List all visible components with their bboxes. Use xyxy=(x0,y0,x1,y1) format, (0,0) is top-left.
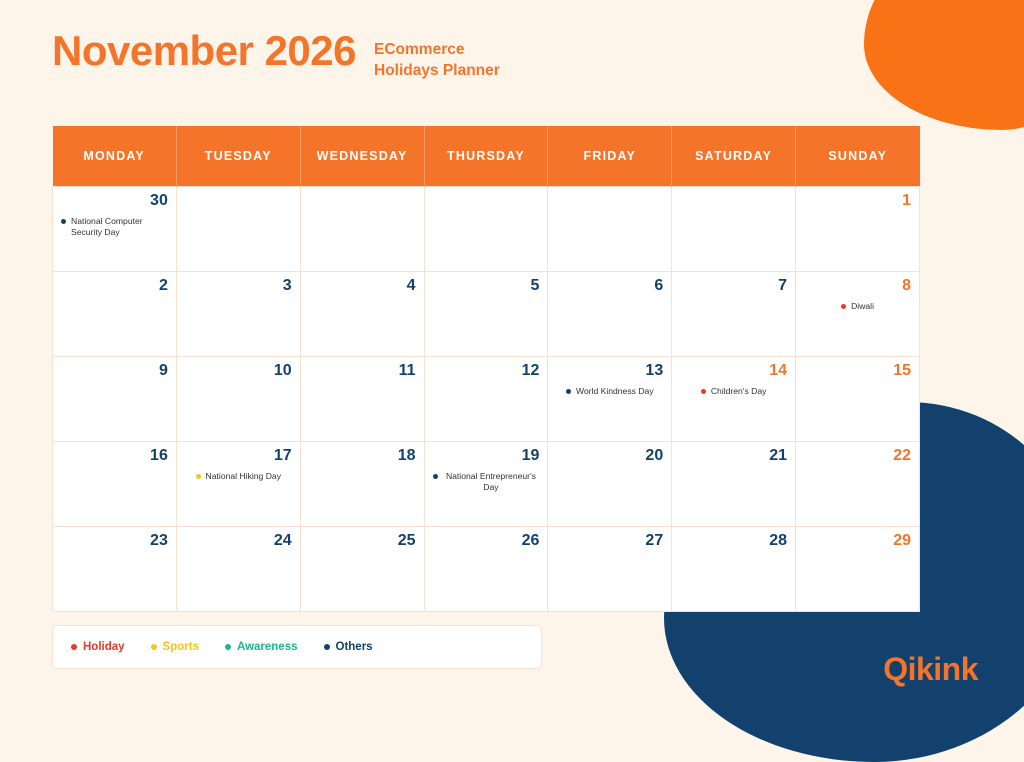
event-label: National Entrepreneur's Day xyxy=(443,471,540,493)
day-events: National Computer Security Day xyxy=(61,216,168,238)
calendar-day-cell[interactable] xyxy=(176,186,300,271)
calendar-event[interactable]: World Kindness Day xyxy=(556,386,663,397)
event-label: Diwali xyxy=(851,301,874,312)
day-number: 28 xyxy=(680,533,787,549)
event-category-dot-others xyxy=(61,219,66,224)
day-number: 30 xyxy=(61,193,168,209)
calendar-day-cell[interactable] xyxy=(672,186,796,271)
calendar-day-cell[interactable]: 23 xyxy=(53,526,177,611)
event-category-dot-others xyxy=(566,389,571,394)
legend-label: Awareness xyxy=(237,641,298,653)
page-title: November 2026 xyxy=(52,30,356,72)
day-number: 3 xyxy=(185,278,292,294)
weekday-header-friday: FRIDAY xyxy=(548,126,672,186)
calendar-day-cell[interactable]: 28 xyxy=(672,526,796,611)
day-number: 1 xyxy=(804,193,911,209)
day-number: 22 xyxy=(804,448,911,464)
weekday-header-wednesday: WEDNESDAY xyxy=(300,126,424,186)
day-number: 12 xyxy=(433,363,540,379)
calendar-day-cell[interactable]: 17National Hiking Day xyxy=(176,441,300,526)
event-category-dot-holiday xyxy=(841,304,846,309)
day-number: 19 xyxy=(433,448,540,464)
calendar-day-cell[interactable]: 8Diwali xyxy=(796,271,920,356)
calendar-day-cell[interactable]: 10 xyxy=(176,356,300,441)
calendar-week-row: 910111213World Kindness Day14Children's … xyxy=(53,356,920,441)
calendar-event[interactable]: National Hiking Day xyxy=(185,471,292,482)
calendar-week-row: 23242526272829 xyxy=(53,526,920,611)
calendar-day-cell[interactable]: 5 xyxy=(424,271,548,356)
calendar-header-row: MONDAYTUESDAYWEDNESDAYTHURSDAYFRIDAYSATU… xyxy=(53,126,920,186)
calendar-day-cell[interactable]: 6 xyxy=(548,271,672,356)
calendar-day-cell[interactable]: 2 xyxy=(53,271,177,356)
legend: HolidaySportsAwarenessOthers xyxy=(52,625,542,669)
legend-item-holiday[interactable]: Holiday xyxy=(71,641,125,653)
page-subtitle: ECommerce Holidays Planner xyxy=(374,30,500,82)
legend-label: Holiday xyxy=(83,641,125,653)
calendar-day-cell[interactable]: 24 xyxy=(176,526,300,611)
event-category-dot-sports xyxy=(196,474,201,479)
legend-label: Sports xyxy=(163,641,199,653)
calendar-day-cell[interactable]: 15 xyxy=(796,356,920,441)
day-number: 26 xyxy=(433,533,540,549)
day-number: 4 xyxy=(309,278,416,294)
day-number: 10 xyxy=(185,363,292,379)
calendar-day-cell[interactable]: 25 xyxy=(300,526,424,611)
calendar-day-cell[interactable]: 12 xyxy=(424,356,548,441)
day-number: 16 xyxy=(61,448,168,464)
day-number: 2 xyxy=(61,278,168,294)
day-number: 6 xyxy=(556,278,663,294)
weekday-header-thursday: THURSDAY xyxy=(424,126,548,186)
calendar-day-cell[interactable]: 13World Kindness Day xyxy=(548,356,672,441)
brand-logo: Qikink xyxy=(883,651,978,688)
day-number: 8 xyxy=(804,278,911,294)
day-number: 15 xyxy=(804,363,911,379)
calendar-day-cell[interactable]: 18 xyxy=(300,441,424,526)
calendar-event[interactable]: National Computer Security Day xyxy=(61,216,168,238)
day-number: 20 xyxy=(556,448,663,464)
calendar-day-cell[interactable]: 30National Computer Security Day xyxy=(53,186,177,271)
calendar-event[interactable]: Diwali xyxy=(804,301,911,312)
day-events: Diwali xyxy=(804,301,911,312)
calendar-week-row: 2345678Diwali xyxy=(53,271,920,356)
event-category-dot-holiday xyxy=(701,389,706,394)
weekday-header-tuesday: TUESDAY xyxy=(176,126,300,186)
day-number: 21 xyxy=(680,448,787,464)
legend-items: HolidaySportsAwarenessOthers xyxy=(71,641,399,653)
day-number: 5 xyxy=(433,278,540,294)
day-number: 23 xyxy=(61,533,168,549)
event-label: Children's Day xyxy=(711,386,767,397)
legend-item-others[interactable]: Others xyxy=(324,641,373,653)
day-events: National Hiking Day xyxy=(185,471,292,482)
day-number: 29 xyxy=(804,533,911,549)
calendar-day-cell[interactable]: 11 xyxy=(300,356,424,441)
calendar-day-cell[interactable]: 4 xyxy=(300,271,424,356)
event-label: World Kindness Day xyxy=(576,386,654,397)
calendar-day-cell[interactable]: 26 xyxy=(424,526,548,611)
legend-dot-sports xyxy=(151,644,157,650)
calendar-day-cell[interactable]: 7 xyxy=(672,271,796,356)
calendar-event[interactable]: National Entrepreneur's Day xyxy=(433,471,540,493)
calendar-event[interactable]: Children's Day xyxy=(680,386,787,397)
page-header: November 2026 ECommerce Holidays Planner xyxy=(52,30,500,82)
decorative-blob-top-right xyxy=(864,0,1024,130)
legend-label: Others xyxy=(336,641,373,653)
day-number: 14 xyxy=(680,363,787,379)
calendar-day-cell[interactable]: 16 xyxy=(53,441,177,526)
calendar-week-row: 30National Computer Security Day1 xyxy=(53,186,920,271)
day-number: 7 xyxy=(680,278,787,294)
weekday-header-row: MONDAYTUESDAYWEDNESDAYTHURSDAYFRIDAYSATU… xyxy=(53,126,920,186)
day-number: 24 xyxy=(185,533,292,549)
day-number: 9 xyxy=(61,363,168,379)
calendar-body: 30National Computer Security Day12345678… xyxy=(53,186,920,611)
day-number: 18 xyxy=(309,448,416,464)
weekday-header-sunday: SUNDAY xyxy=(796,126,920,186)
event-category-dot-others xyxy=(433,474,438,479)
calendar-day-cell[interactable]: 9 xyxy=(53,356,177,441)
legend-dot-holiday xyxy=(71,644,77,650)
calendar: MONDAYTUESDAYWEDNESDAYTHURSDAYFRIDAYSATU… xyxy=(52,126,920,612)
legend-item-awareness[interactable]: Awareness xyxy=(225,641,298,653)
calendar-day-cell[interactable]: 19National Entrepreneur's Day xyxy=(424,441,548,526)
legend-dot-awareness xyxy=(225,644,231,650)
calendar-day-cell[interactable]: 21 xyxy=(672,441,796,526)
day-number: 11 xyxy=(309,363,416,379)
event-label: National Hiking Day xyxy=(206,471,281,482)
day-number: 13 xyxy=(556,363,663,379)
event-label: National Computer Security Day xyxy=(71,216,168,238)
calendar-day-cell[interactable]: 20 xyxy=(548,441,672,526)
calendar-day-cell[interactable]: 1 xyxy=(796,186,920,271)
calendar-day-cell[interactable] xyxy=(548,186,672,271)
legend-dot-others xyxy=(324,644,330,650)
subtitle-line-2: Holidays Planner xyxy=(374,61,500,82)
calendar-week-row: 1617National Hiking Day1819National Entr… xyxy=(53,441,920,526)
calendar-day-cell[interactable] xyxy=(424,186,548,271)
day-number: 27 xyxy=(556,533,663,549)
calendar-day-cell[interactable]: 22 xyxy=(796,441,920,526)
calendar-table: MONDAYTUESDAYWEDNESDAYTHURSDAYFRIDAYSATU… xyxy=(52,126,920,612)
day-events: National Entrepreneur's Day xyxy=(433,471,540,493)
calendar-day-cell[interactable] xyxy=(300,186,424,271)
weekday-header-monday: MONDAY xyxy=(53,126,177,186)
calendar-day-cell[interactable]: 27 xyxy=(548,526,672,611)
calendar-day-cell[interactable]: 14Children's Day xyxy=(672,356,796,441)
legend-item-sports[interactable]: Sports xyxy=(151,641,199,653)
brand-name: Qikink xyxy=(883,651,978,688)
day-events: World Kindness Day xyxy=(556,386,663,397)
subtitle-line-1: ECommerce xyxy=(374,40,500,61)
day-events: Children's Day xyxy=(680,386,787,397)
calendar-day-cell[interactable]: 3 xyxy=(176,271,300,356)
weekday-header-saturday: SATURDAY xyxy=(672,126,796,186)
day-number: 17 xyxy=(185,448,292,464)
calendar-day-cell[interactable]: 29 xyxy=(796,526,920,611)
day-number: 25 xyxy=(309,533,416,549)
